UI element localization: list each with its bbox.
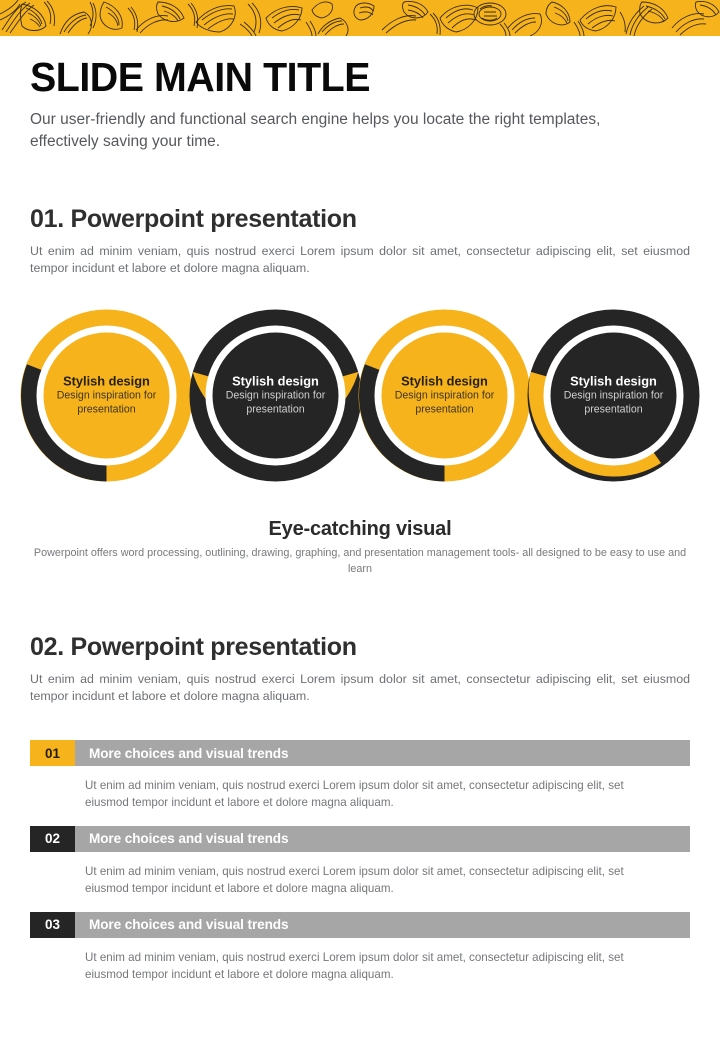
list-item-number-3: 03 <box>30 912 75 938</box>
section-02: 02. Powerpoint presentation Ut enim ad m… <box>30 634 690 706</box>
circle-item-3[interactable]: Stylish design Design inspiration for pr… <box>352 303 537 488</box>
list-item-heading-1: More choices and visual trends <box>75 740 690 766</box>
page-subtitle: Our user-friendly and functional search … <box>30 109 690 153</box>
list-item-body-3: Ut enim ad minim veniam, quis nostrud ex… <box>85 949 645 984</box>
circle-ring-1-icon <box>14 303 199 488</box>
section-02-title: 02. Powerpoint presentation <box>30 634 690 662</box>
diagram-caption: Eye-catching visual Powerpoint offers wo… <box>30 518 690 577</box>
circle-ring-3-icon <box>352 303 537 488</box>
circle-diagram: Stylish design Design inspiration for pr… <box>14 303 706 488</box>
list-item[interactable]: 03 More choices and visual trends Ut eni… <box>30 912 690 984</box>
section-01-paragraph: Ut enim ad minim veniam, quis nostrud ex… <box>30 243 690 279</box>
list-item-heading-3: More choices and visual trends <box>75 912 690 938</box>
list-item-body-1: Ut enim ad minim veniam, quis nostrud ex… <box>85 777 645 812</box>
list-item-heading-2: More choices and visual trends <box>75 826 690 852</box>
page-title: SLIDE MAIN TITLE <box>30 56 664 99</box>
section-02-paragraph: Ut enim ad minim veniam, quis nostrud ex… <box>30 671 690 707</box>
header-block: SLIDE MAIN TITLE Our user-friendly and f… <box>30 56 690 153</box>
section-01-title: 01. Powerpoint presentation <box>30 206 690 234</box>
list-item-bar-2[interactable]: 02 More choices and visual trends <box>30 826 690 852</box>
decorative-banner <box>0 0 720 36</box>
list-item-body-2: Ut enim ad minim veniam, quis nostrud ex… <box>85 863 645 898</box>
list-item-number-1: 01 <box>30 740 75 766</box>
subtitle-line-1: Our user-friendly and functional search … <box>30 111 600 128</box>
circle-item-4[interactable]: Stylish design Design inspiration for pr… <box>521 303 706 488</box>
numbered-list: 01 More choices and visual trends Ut eni… <box>30 740 690 997</box>
circle-ring-4-icon <box>521 303 706 488</box>
caption-title: Eye-catching visual <box>30 518 690 541</box>
section-01: 01. Powerpoint presentation Ut enim ad m… <box>30 206 690 278</box>
list-item-number-2: 02 <box>30 826 75 852</box>
circle-ring-2-icon <box>183 303 368 488</box>
list-item-bar-3[interactable]: 03 More choices and visual trends <box>30 912 690 938</box>
circle-item-2[interactable]: Stylish design Design inspiration for pr… <box>183 303 368 488</box>
subtitle-line-2: effectively saving your time. <box>30 133 220 150</box>
list-item-bar-1[interactable]: 01 More choices and visual trends <box>30 740 690 766</box>
caption-body: Powerpoint offers word processing, outli… <box>30 546 690 577</box>
list-item[interactable]: 02 More choices and visual trends Ut eni… <box>30 826 690 898</box>
circle-item-1[interactable]: Stylish design Design inspiration for pr… <box>14 303 199 488</box>
list-item[interactable]: 01 More choices and visual trends Ut eni… <box>30 740 690 812</box>
botanical-engraving-pattern-icon <box>0 0 720 36</box>
